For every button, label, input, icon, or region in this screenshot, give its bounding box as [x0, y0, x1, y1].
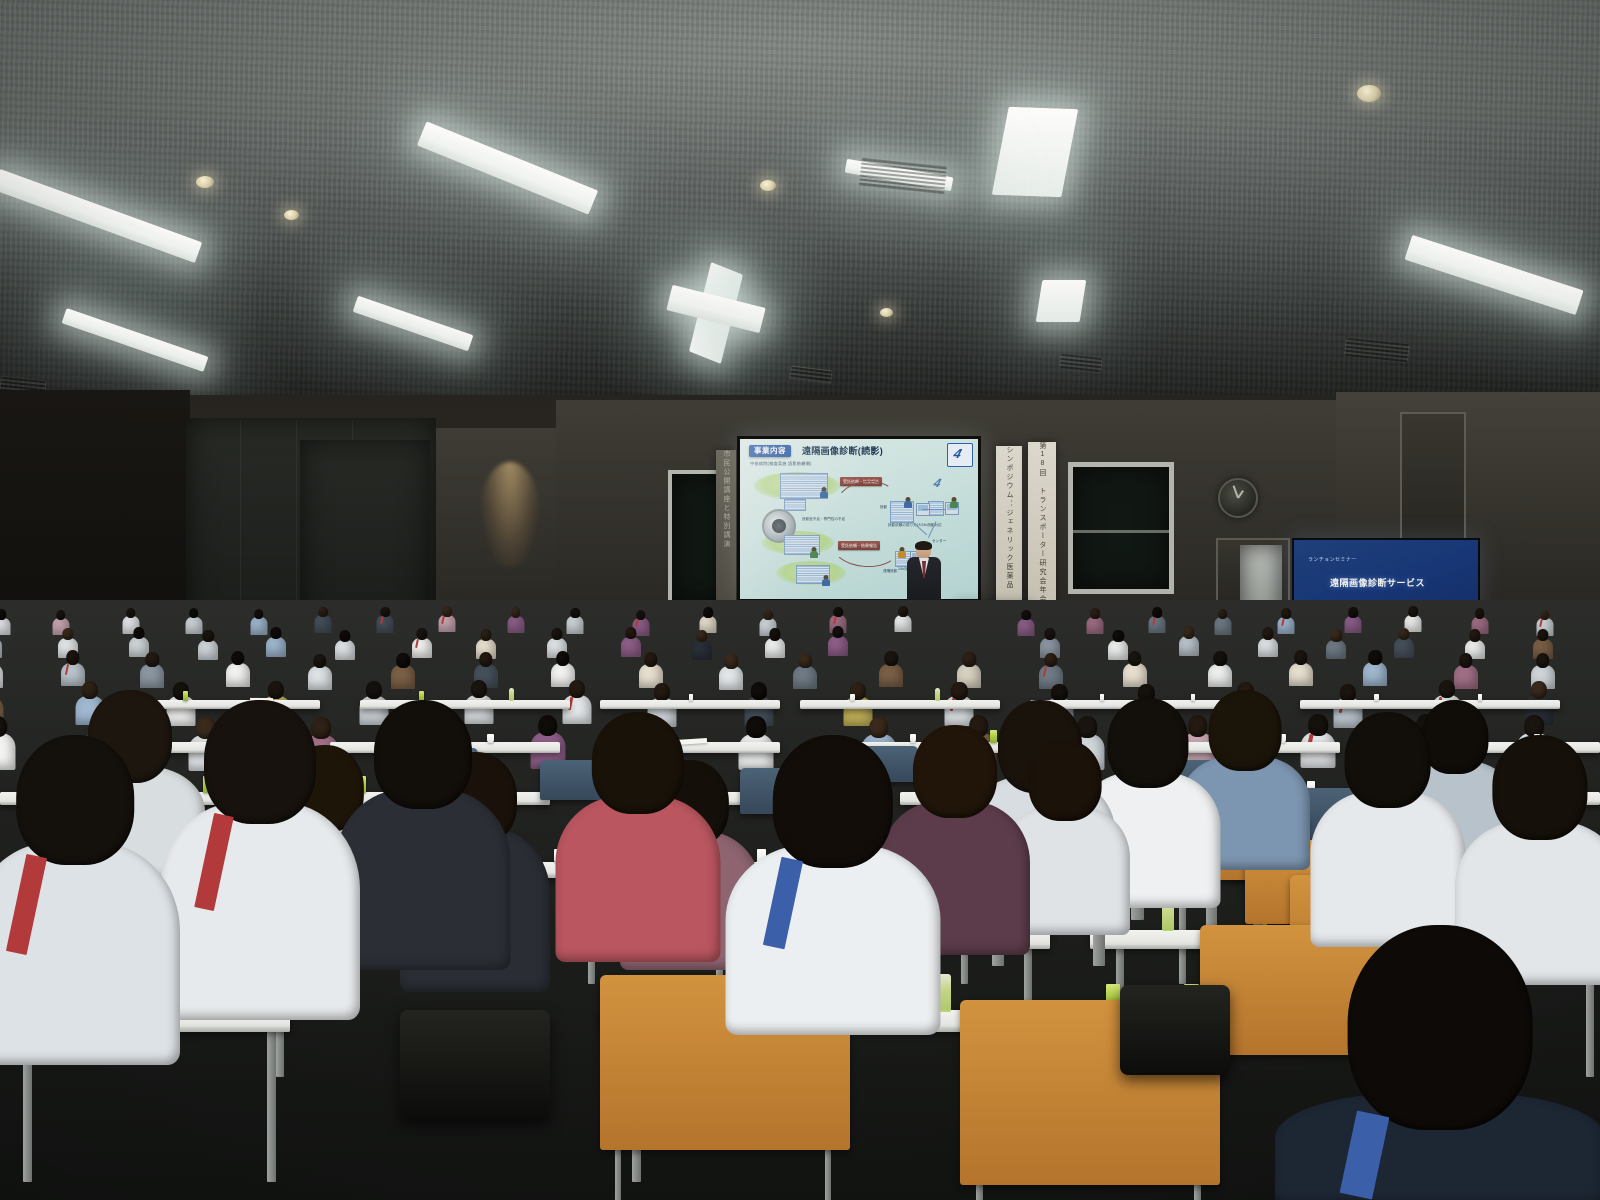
audience-member	[335, 700, 510, 970]
banner-center: シンポジウム：ジェネリック医薬品	[996, 446, 1022, 618]
audience-head	[884, 651, 897, 666]
audience-shoulders	[1310, 791, 1465, 947]
audience-member	[555, 712, 720, 962]
audience-head	[551, 628, 562, 640]
audience-member	[1214, 609, 1231, 635]
audience-head	[697, 630, 708, 642]
clock-minute-hand	[1233, 486, 1239, 499]
side-slide-title: 遠隔画像診断サービス	[1330, 576, 1425, 589]
audience-head	[751, 682, 767, 700]
audience-member	[895, 606, 912, 632]
audience-head	[1113, 630, 1124, 642]
ceiling-vignette	[0, 0, 1600, 430]
audience-member	[1123, 651, 1147, 687]
audience-head	[270, 627, 281, 639]
audience-head	[268, 681, 284, 699]
audience-head	[204, 700, 316, 824]
audience-shoulders	[555, 796, 720, 962]
audience-member	[1179, 626, 1199, 656]
audience-member	[567, 608, 584, 634]
audience-head	[570, 608, 580, 619]
audience-shoulders	[391, 665, 415, 689]
audience-member	[266, 627, 286, 657]
audience-head	[471, 680, 487, 698]
wall-spotlight-glow	[480, 462, 540, 567]
audience-member	[1310, 712, 1465, 947]
audience-shoulders	[1345, 616, 1362, 633]
paper-cup	[689, 694, 693, 701]
audience-head	[511, 607, 521, 618]
audience-head	[1369, 650, 1382, 665]
audience-head	[146, 652, 159, 667]
audience-head	[1183, 626, 1194, 638]
audience-shoulders	[140, 664, 164, 688]
audience-shoulders	[1363, 662, 1387, 686]
audience-member	[377, 607, 394, 633]
side-slide-kicker: ランチョンセミナー	[1308, 556, 1357, 563]
audience-member	[1087, 608, 1104, 634]
audience-member	[1363, 650, 1387, 686]
audience-shoulders	[1208, 664, 1232, 688]
audience-member	[725, 735, 940, 1035]
audience-shoulders	[719, 666, 743, 690]
audience-shoulders	[1278, 617, 1295, 634]
audience-member	[1289, 650, 1313, 686]
audience-head	[1262, 627, 1273, 639]
audience-shoulders	[308, 666, 332, 690]
audience-member	[719, 654, 743, 690]
audience-member	[1258, 627, 1278, 657]
audience-head	[318, 607, 328, 618]
audience-member	[226, 651, 250, 687]
audience-shoulders	[879, 664, 903, 688]
audience-head	[1408, 606, 1418, 617]
audience-head	[231, 651, 244, 666]
audience-member	[692, 630, 712, 660]
audience-shoulders	[828, 636, 848, 656]
audience-head	[1344, 712, 1431, 808]
audience-shoulders	[1258, 638, 1278, 658]
audience-member	[160, 700, 360, 1020]
audience-head	[1213, 651, 1226, 666]
audience-head	[189, 608, 199, 619]
audience-head	[126, 608, 136, 619]
audience-head	[16, 735, 134, 865]
audience-head	[625, 627, 636, 639]
partition-seam-2	[296, 420, 297, 630]
audience-shoulders	[1018, 619, 1035, 636]
audience-member	[140, 652, 164, 688]
audience-member	[1275, 925, 1600, 1200]
audience-member	[1345, 607, 1362, 633]
audience-head	[1029, 740, 1102, 821]
audience-head	[1045, 628, 1056, 640]
audience-head	[442, 606, 452, 617]
drink-bottle	[509, 688, 513, 701]
ceiling	[0, 0, 1600, 430]
audience-head	[479, 652, 492, 667]
audience-head	[772, 735, 892, 868]
audience-shoulders	[1394, 638, 1414, 658]
audience-head	[1348, 925, 1533, 1130]
audience-head	[339, 630, 350, 642]
audience-member	[315, 607, 332, 633]
paper-cup	[850, 694, 854, 701]
main-projection-screen: 事業内容 遠隔画像診断(読影) 中核病院(検査実施 読影依頼側) 4 4	[737, 436, 981, 602]
presenter-person	[905, 542, 943, 604]
audience-member	[879, 651, 903, 687]
audience-member	[0, 735, 180, 1065]
table-leg	[267, 1032, 276, 1182]
lecture-hall-photo: 市民公開講座と特別講演 シンポジウム：ジェネリック医薬品 第18回 トランスポー…	[0, 0, 1600, 1200]
audience-head	[1475, 608, 1485, 619]
banner-left-text: 市民公開講座と特別講演	[721, 450, 731, 549]
audience-shoulders	[507, 616, 524, 633]
audience-shoulders	[377, 615, 394, 632]
wall-chalkboard	[1068, 462, 1174, 594]
audience-head	[1469, 629, 1480, 641]
audience-member	[391, 653, 415, 689]
chair-leg	[1194, 1185, 1201, 1200]
audience-member	[793, 654, 817, 690]
table	[600, 700, 780, 709]
audience-member	[308, 654, 332, 690]
audience-head	[654, 683, 670, 701]
partition-seam-1	[240, 420, 241, 630]
audience-shoulders	[1179, 636, 1199, 656]
audience-shoulders	[895, 615, 912, 632]
audience-head	[770, 628, 781, 640]
banner-left-wall: 市民公開講座と特別講演	[716, 450, 736, 610]
audience-shoulders	[765, 638, 785, 658]
chair-leg	[976, 1185, 983, 1200]
audience-head	[374, 700, 472, 809]
audience-member	[828, 626, 848, 656]
audience-head	[1399, 628, 1410, 640]
audience-shoulders	[1326, 640, 1346, 660]
audience-head	[962, 652, 975, 667]
audience-shoulders	[198, 640, 218, 660]
audience-head	[1531, 681, 1547, 699]
audience-member	[1018, 610, 1035, 636]
audience-head	[313, 654, 326, 669]
floor-bag	[400, 1010, 550, 1120]
audience-head	[1218, 609, 1228, 620]
wall-clock	[1218, 478, 1258, 518]
audience-head	[799, 654, 812, 669]
chalkboard-rail	[1073, 530, 1169, 533]
audience-head	[556, 651, 569, 666]
audience-member	[765, 628, 785, 658]
audience-member	[198, 630, 218, 660]
ceiling-lamp-7	[1036, 280, 1087, 322]
audience-shoulders	[266, 637, 286, 657]
audience-head	[1331, 629, 1342, 641]
banner-right: 第18回 トランスポーター研究会年会	[1028, 442, 1056, 620]
audience-shoulders	[725, 844, 940, 1035]
audience-head	[1051, 684, 1067, 702]
table-edge	[600, 707, 780, 709]
audience-head	[480, 629, 491, 641]
audience-shoulders	[692, 640, 712, 660]
chair-leg	[615, 1150, 621, 1200]
audience-shoulders	[335, 640, 355, 660]
audience-head	[1438, 680, 1454, 698]
downlight-5	[880, 308, 893, 317]
audience-shoulders	[567, 616, 584, 633]
audience-head	[1128, 651, 1141, 666]
floor-bag	[1120, 985, 1230, 1075]
audience-head	[62, 628, 73, 640]
audience-shoulders	[1214, 617, 1231, 634]
audience-head	[951, 682, 967, 700]
audience-head	[899, 606, 909, 617]
audience-shoulders	[793, 666, 817, 690]
audience-head	[832, 626, 843, 638]
audience-head	[1348, 607, 1358, 618]
banner-right-text: 第18回 トランスポーター研究会年会	[1037, 442, 1047, 604]
audience-head	[366, 681, 382, 699]
audience-head	[56, 610, 66, 621]
banner-center-text: シンポジウム：ジェネリック医薬品	[1004, 446, 1014, 590]
downlight-3	[1357, 85, 1381, 102]
audience-shoulders	[1289, 663, 1313, 687]
audience-member	[507, 607, 524, 633]
paper-cup	[1374, 694, 1378, 701]
audience-member	[1394, 628, 1414, 658]
presenter-hair	[915, 541, 932, 550]
audience-head	[569, 680, 585, 698]
audience-head	[1538, 629, 1549, 641]
audience-shoulders	[315, 615, 332, 632]
audience-shoulders	[335, 789, 510, 970]
audience-head	[1294, 650, 1307, 665]
audience-member	[439, 606, 456, 632]
audience-head	[1459, 653, 1472, 668]
audience-head	[644, 652, 657, 667]
drink-bottle	[935, 688, 939, 701]
downlight-4	[760, 180, 776, 191]
audience-head	[703, 607, 713, 618]
downlight-1	[196, 176, 214, 188]
audience-head	[591, 712, 683, 814]
audience-shoulders	[160, 802, 360, 1020]
audience-head	[0, 609, 7, 620]
audience-shoulders	[226, 663, 250, 687]
audience-head	[397, 653, 410, 668]
audience-member	[1208, 651, 1232, 687]
audience-head	[1340, 684, 1356, 702]
audience-member	[1326, 629, 1346, 659]
audience-member	[1149, 607, 1166, 633]
audience-head	[1090, 608, 1100, 619]
audience-head	[133, 627, 144, 639]
audience-head	[1021, 610, 1031, 621]
chair-leg	[825, 1150, 831, 1200]
audience-head	[203, 630, 214, 642]
audience-head	[254, 609, 264, 620]
audience-member	[1278, 608, 1295, 634]
audience-shoulders	[1087, 617, 1104, 634]
audience-head	[763, 610, 773, 621]
audience-head	[725, 654, 738, 669]
downlight-2	[284, 210, 299, 220]
audience-member	[335, 630, 355, 660]
audience-shoulders	[1149, 616, 1166, 633]
audience-head	[1492, 735, 1587, 840]
audience-head	[1536, 653, 1549, 668]
